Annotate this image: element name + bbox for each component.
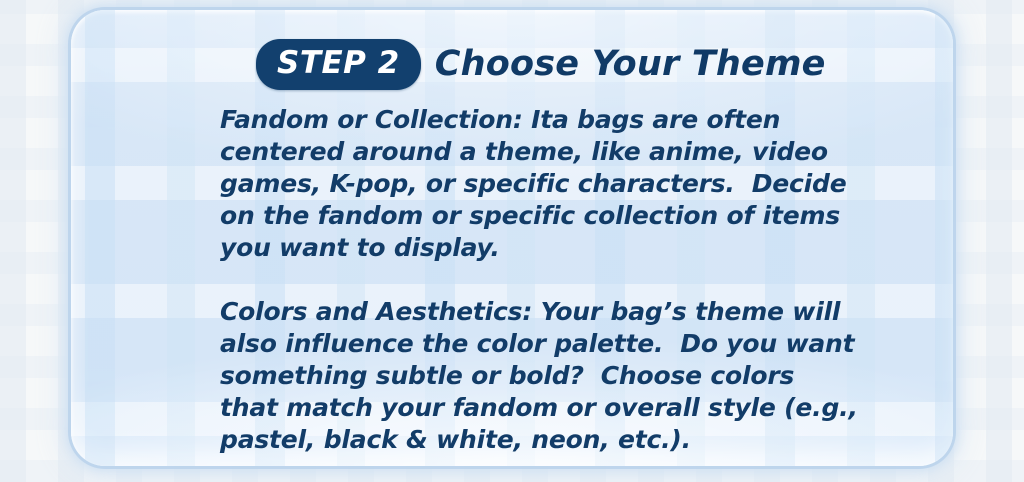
text-line: games, K-pop, or specific characters. De… bbox=[220, 168, 920, 200]
text-line: centered around a theme, like anime, vid… bbox=[220, 136, 920, 168]
card-heading: STEP 2 Choose Your Theme bbox=[256, 39, 826, 90]
paragraph-colors-and-aesthetics: Colors and Aesthetics: Your bag’s theme … bbox=[220, 296, 920, 456]
step-number-badge: STEP 2 bbox=[256, 39, 421, 90]
text-line: you want to display. bbox=[220, 232, 920, 264]
card-body-text: Fandom or Collection: Ita bags are often… bbox=[220, 104, 920, 456]
step-card: STEP 2 Choose Your Theme Fandom or Colle… bbox=[71, 10, 953, 466]
text-line: also influence the color palette. Do you… bbox=[220, 328, 920, 360]
text-line: that match your fandom or overall style … bbox=[220, 392, 920, 424]
paragraph-fandom-or-collection: Fandom or Collection: Ita bags are often… bbox=[220, 104, 920, 264]
text-line: Fandom or Collection: Ita bags are often bbox=[220, 104, 920, 136]
text-line: Colors and Aesthetics: Your bag’s theme … bbox=[220, 296, 920, 328]
page-title: Choose Your Theme bbox=[435, 47, 826, 82]
text-line: on the fandom or specific collection of … bbox=[220, 200, 920, 232]
text-line: something subtle or bold? Choose colors bbox=[220, 360, 920, 392]
text-line: pastel, black & white, neon, etc.). bbox=[220, 424, 920, 456]
card-content: STEP 2 Choose Your Theme Fandom or Colle… bbox=[71, 10, 953, 466]
